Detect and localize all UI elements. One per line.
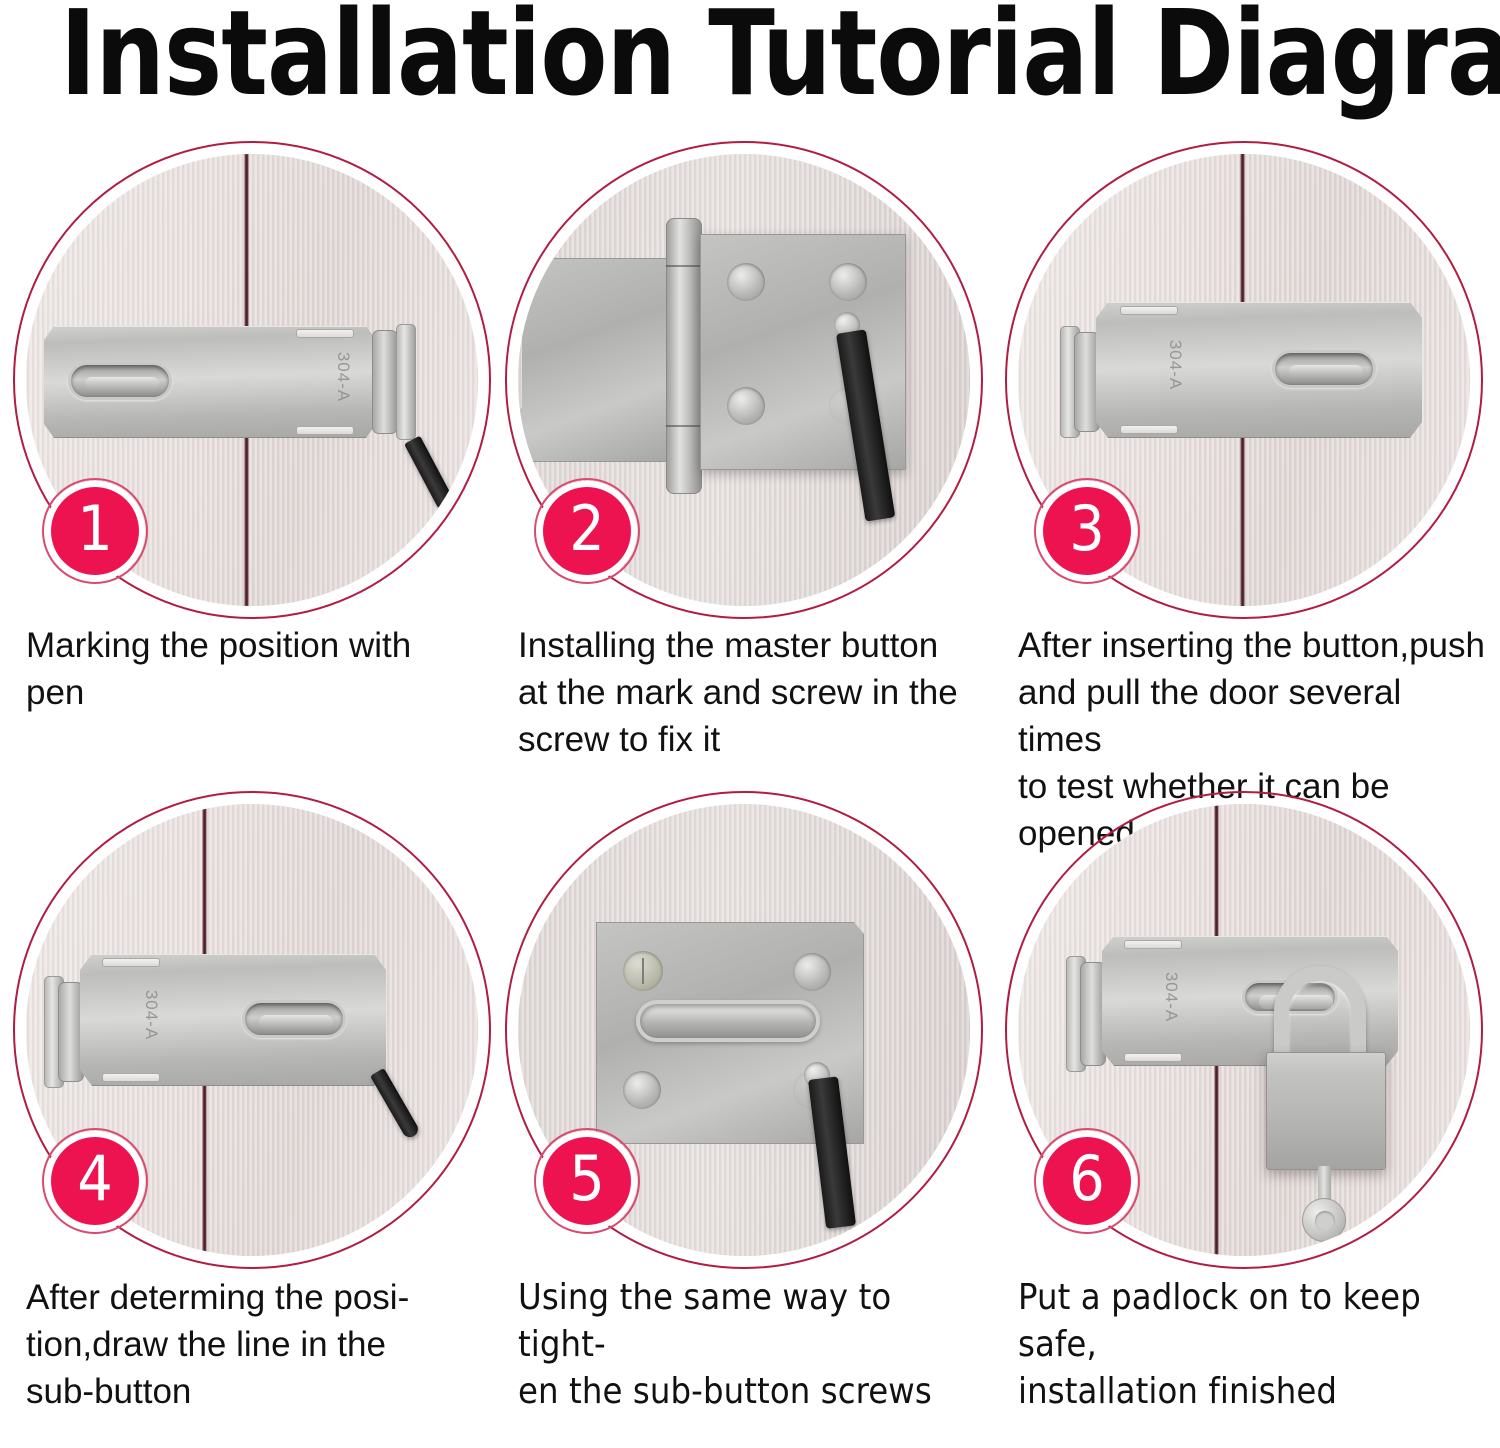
steps-grid: 304-A 1 Marking the position with pen	[0, 130, 1500, 1415]
page-title: Installation Tutorial Diagram	[60, 0, 1440, 112]
step-caption-6: Put a padlock on to keep safe, installat…	[1018, 1274, 1488, 1415]
step-card-4: 304-A 4 After determing the posi- tion,d…	[0, 790, 492, 1415]
hasp-notch-bottom-icon	[1124, 1053, 1182, 1062]
hasp-slot-icon	[68, 362, 172, 400]
badge-disc-icon: 2	[543, 487, 631, 575]
badge-disc-icon: 6	[1043, 1137, 1131, 1225]
screw-head-icon	[623, 951, 663, 991]
badge-number: 6	[1069, 1148, 1104, 1214]
step-badge-6: 6	[1034, 1128, 1140, 1234]
step-caption-2: Installing the master button at the mark…	[518, 622, 988, 763]
hasp-notch-bottom-icon	[102, 1073, 160, 1082]
step-badge-4: 4	[42, 1128, 148, 1234]
step-caption-4: After determing the posi- tion,draw the …	[26, 1274, 492, 1415]
badge-number: 4	[77, 1148, 112, 1214]
hasp-hinge-knuckle-icon	[372, 330, 398, 434]
badge-disc-icon: 5	[543, 1137, 631, 1225]
step-caption-1: Marking the position with pen	[26, 622, 492, 716]
step-badge-2: 2	[534, 478, 640, 584]
hasp-notch-bottom-icon	[1120, 425, 1178, 434]
step-photo-4: 304-A 4	[26, 804, 478, 1256]
step-card-3: 304-A 3 After inserting the button,push …	[992, 130, 1500, 790]
step-photo-6: 304-A 6	[1018, 804, 1470, 1256]
badge-number: 2	[569, 498, 604, 564]
installation-tutorial-page: Installation Tutorial Diagram 304-A	[0, 0, 1500, 1448]
step-badge-3: 3	[1034, 478, 1140, 584]
hasp-notch-top-icon	[296, 329, 354, 338]
hasp-strap-end-icon	[518, 258, 674, 462]
hasp-slot-icon	[1272, 350, 1376, 388]
step-photo-5: 5	[518, 804, 970, 1256]
step-card-6: 304-A 6 Put a padlock on to keep safe,	[992, 790, 1500, 1415]
step-card-5: 5 Using the same way to tight- en the su…	[492, 790, 992, 1415]
step-badge-1: 1	[42, 478, 148, 584]
hasp-stamp-label: 304-A	[141, 990, 161, 1040]
screw-hole-icon	[829, 263, 867, 301]
step-card-1: 304-A 1 Marking the position with pen	[0, 130, 492, 790]
hasp-stamp-label: 304-A	[333, 352, 353, 402]
badge-disc-icon: 1	[51, 487, 139, 575]
step-badge-5: 5	[534, 1128, 640, 1234]
hasp-notch-bottom-icon	[296, 426, 354, 435]
hasp-notch-top-icon	[102, 958, 160, 967]
hasp-stamp-label: 304-A	[1165, 340, 1185, 390]
hasp-notch-top-icon	[1120, 306, 1178, 315]
screw-hole-icon	[727, 263, 765, 301]
badge-disc-icon: 4	[51, 1137, 139, 1225]
step-caption-5: Using the same way to tight- en the sub-…	[518, 1274, 988, 1415]
step-photo-1: 304-A 1	[26, 154, 478, 606]
padlock-body-icon	[1266, 1052, 1386, 1170]
screw-hole-icon	[793, 953, 831, 991]
badge-number: 5	[569, 1148, 604, 1214]
screw-hole-icon	[623, 1071, 661, 1109]
step-photo-2: 2	[518, 154, 970, 606]
hasp-stamp-label: 304-A	[1161, 972, 1181, 1022]
step-card-2: 2 Installing the master button at the ma…	[492, 130, 992, 790]
hasp-slot-icon	[242, 1000, 346, 1038]
hasp-hinge-plate-icon	[396, 324, 416, 440]
step-photo-3: 304-A 3	[1018, 154, 1470, 606]
badge-disc-icon: 3	[1043, 487, 1131, 575]
staple-loop-icon	[636, 1000, 820, 1042]
key-head-icon	[1302, 1198, 1346, 1242]
screw-hole-icon	[727, 387, 765, 425]
hasp-notch-top-icon	[1124, 940, 1182, 949]
badge-number: 1	[77, 498, 112, 564]
badge-number: 3	[1069, 498, 1104, 564]
hinge-barrel-icon	[666, 218, 702, 494]
